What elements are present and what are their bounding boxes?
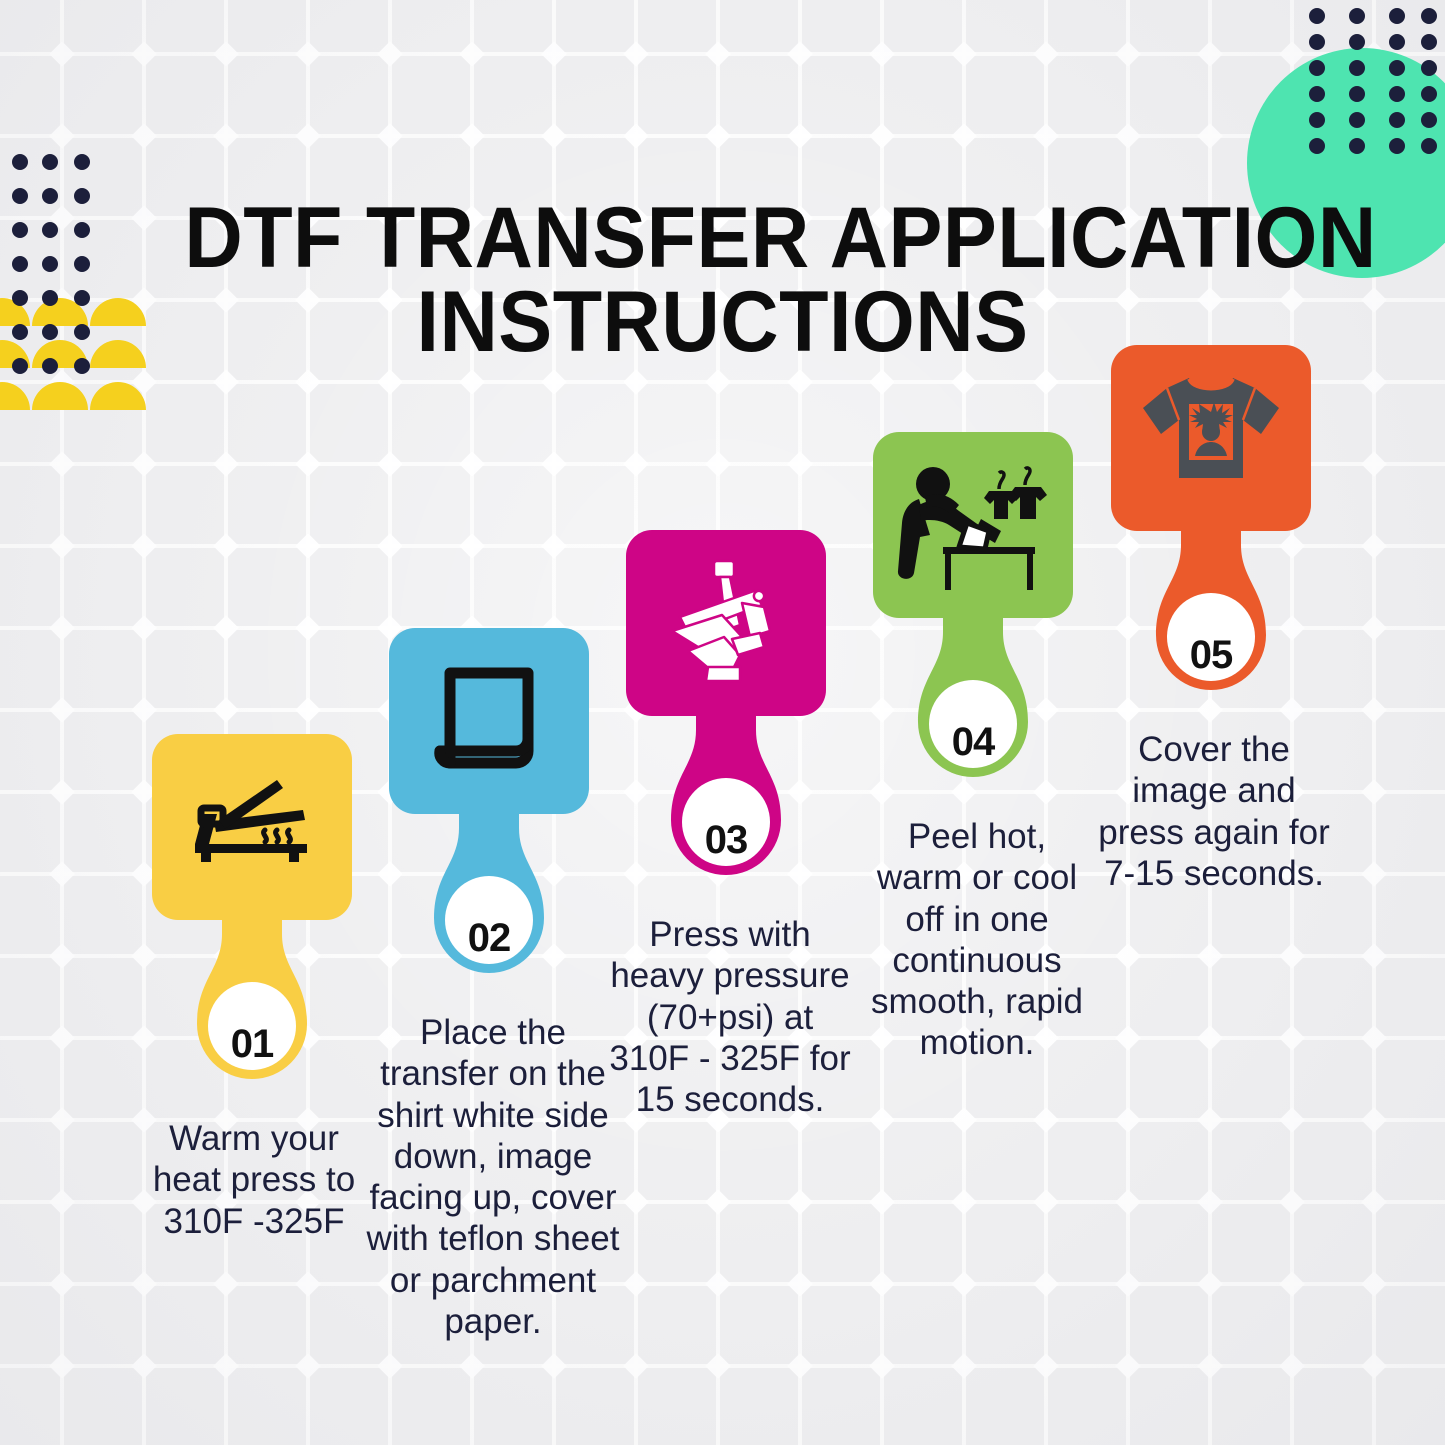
step-04-text: Peel hot, warm or cool off in one contin… <box>858 816 1096 1064</box>
step-04-number: 04 <box>848 720 1098 765</box>
step-02-number: 02 <box>364 916 614 961</box>
step-02-icon-card[interactable] <box>389 628 589 814</box>
step-02-connector: 02 <box>364 808 614 1004</box>
step-04-icon-card[interactable] <box>873 432 1073 618</box>
step-item-04[interactable]: 04 Peel hot, warm or cool off in one con… <box>848 432 1098 1064</box>
step-03-connector: 03 <box>601 710 851 906</box>
step-01-number: 01 <box>127 1022 377 1067</box>
step-05-connector: 05 <box>1086 525 1336 721</box>
transfer-sheet-icon <box>428 663 550 779</box>
step-01-icon-card[interactable] <box>152 734 352 920</box>
step-05-icon-card[interactable] <box>1111 345 1311 531</box>
peel-transfer-person-icon <box>895 459 1051 591</box>
dot-grid-over-domes-decoration <box>4 286 114 416</box>
step-03-number: 03 <box>601 818 851 863</box>
step-03-text: Press with heavy pressure (70+psi) at 31… <box>601 914 859 1120</box>
step-01-connector: 01 <box>127 914 377 1110</box>
dot-grid-topright-decoration <box>1305 4 1437 164</box>
heat-press-machine-icon <box>658 555 794 691</box>
printed-tshirt-icon <box>1137 372 1285 504</box>
step-05-number: 05 <box>1086 633 1336 678</box>
heat-press-open-icon <box>181 774 323 880</box>
infographic-poster: DTF TRANSFER APPLICATION INSTRUCTIONS <box>0 0 1445 1445</box>
title-line-1: DTF TRANSFER APPLICATION <box>184 196 1260 280</box>
step-item-05[interactable]: 05 Cover the image and press again for 7… <box>1086 345 1336 894</box>
page-title: DTF TRANSFER APPLICATION INSTRUCTIONS <box>184 196 1260 365</box>
step-03-icon-card[interactable] <box>626 530 826 716</box>
step-01-text: Warm your heat press to 310F -325F <box>127 1118 381 1242</box>
step-05-text: Cover the image and press again for 7-15… <box>1092 729 1336 894</box>
step-item-01[interactable]: 01 Warm your heat press to 310F -325F <box>127 734 377 1242</box>
step-item-02[interactable]: 02 Place the transfer on the shirt white… <box>364 628 614 1342</box>
step-04-connector: 04 <box>848 612 1098 808</box>
step-item-03[interactable]: 03 Press with heavy pressure (70+psi) at… <box>601 530 851 1120</box>
step-02-text: Place the transfer on the shirt white si… <box>358 1012 628 1342</box>
